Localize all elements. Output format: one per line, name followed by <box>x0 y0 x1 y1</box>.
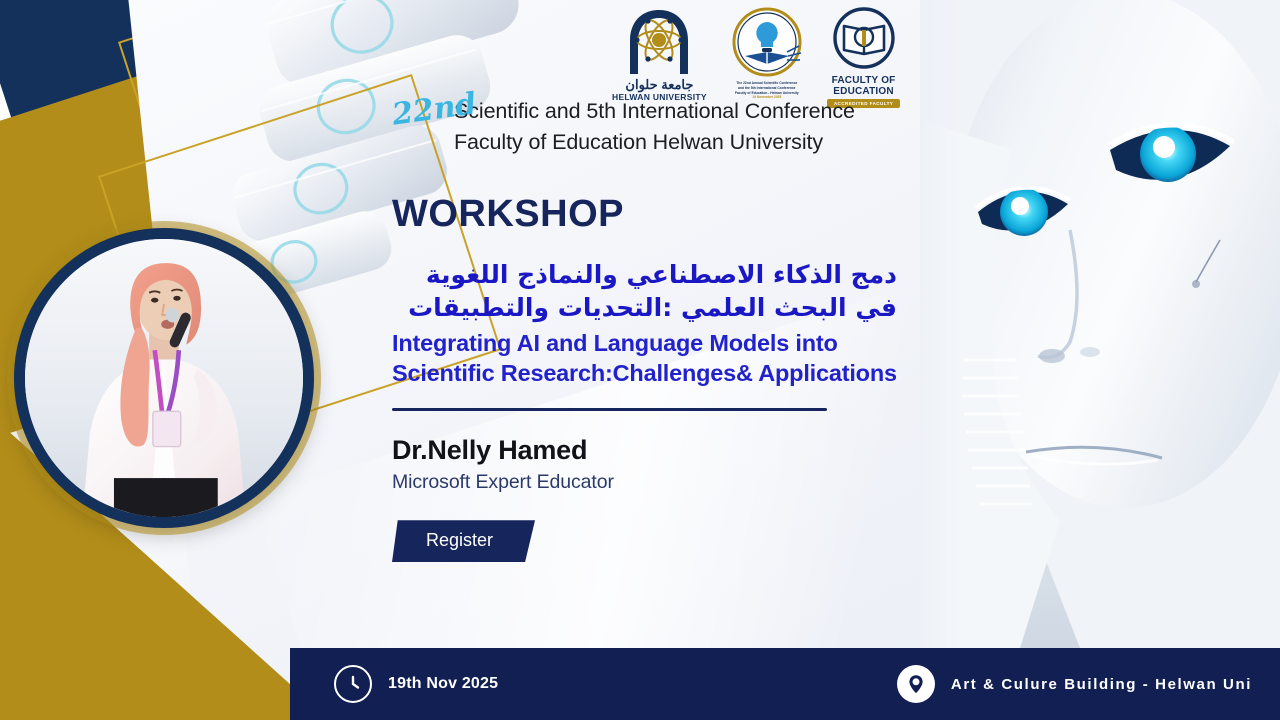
faculty-logo-name-line-1: FACULTY OF <box>832 76 896 87</box>
lightbulb-book-seal-icon <box>721 6 813 80</box>
conference-heading: 22nd Scientific and 5th International Co… <box>392 96 922 157</box>
title-divider <box>392 408 827 411</box>
helwan-arch-atom-icon <box>616 6 702 78</box>
book-pen-circle-icon <box>828 6 900 74</box>
helwan-logo-arabic-name: جامعة حلوان <box>625 78 693 91</box>
map-pin-icon <box>897 665 935 703</box>
helwan-university-logo: جامعة حلوان HELWAN UNIVERSITY <box>612 6 707 102</box>
workshop-title-arabic: دمج الذكاء الاصطناعي والنماذج اللغوية في… <box>392 258 897 324</box>
faculty-of-education-logo: FACULTY OF EDUCATION ACCREDITED FACULTY <box>827 6 900 108</box>
conference-workshop-poster: جامعة حلوان HELWAN UNIVERSITY The 22nd A… <box>0 0 1280 720</box>
clock-icon <box>334 665 372 703</box>
footer-date-text: 19th Nov 2025 <box>388 675 498 693</box>
speaker-name: Dr.Nelly Hamed <box>392 435 922 466</box>
workshop-label: WORKSHOP <box>392 193 922 236</box>
speaker-role: Microsoft Expert Educator <box>392 471 922 494</box>
workshop-title-arabic-line-2: في البحث العلمي :التحديات والتطبيقات <box>392 291 897 324</box>
workshop-title-english: Integrating AI and Language Models into … <box>392 328 912 388</box>
footer-location-item: Art & Culure Building - Helwan Uni <box>897 665 1252 703</box>
conference-title-line-1: Scientific and 5th International Confere… <box>454 96 922 127</box>
register-button[interactable]: Register <box>392 520 535 562</box>
footer-date-item: 19th Nov 2025 <box>334 665 498 703</box>
footer-location-text: Art & Culure Building - Helwan Uni <box>951 676 1252 693</box>
logo-row: جامعة حلوان HELWAN UNIVERSITY The 22nd A… <box>612 6 900 108</box>
workshop-title-arabic-line-1: دمج الذكاء الاصطناعي والنماذج اللغوية <box>392 258 897 291</box>
conference-seal-logo: The 22nd Annual Scientific Conference an… <box>721 6 813 100</box>
speaker-avatar <box>14 228 314 528</box>
conference-title-line-2: Faculty of Education Helwan University <box>454 127 922 158</box>
android-face-image <box>920 0 1280 648</box>
faculty-logo-name: FACULTY OF EDUCATION <box>832 76 896 97</box>
poster-content: 22nd Scientific and 5th International Co… <box>392 96 922 562</box>
speaker-photo-illustration <box>25 239 303 517</box>
footer-bar: 19th Nov 2025 Art & Culure Building - He… <box>290 648 1280 720</box>
